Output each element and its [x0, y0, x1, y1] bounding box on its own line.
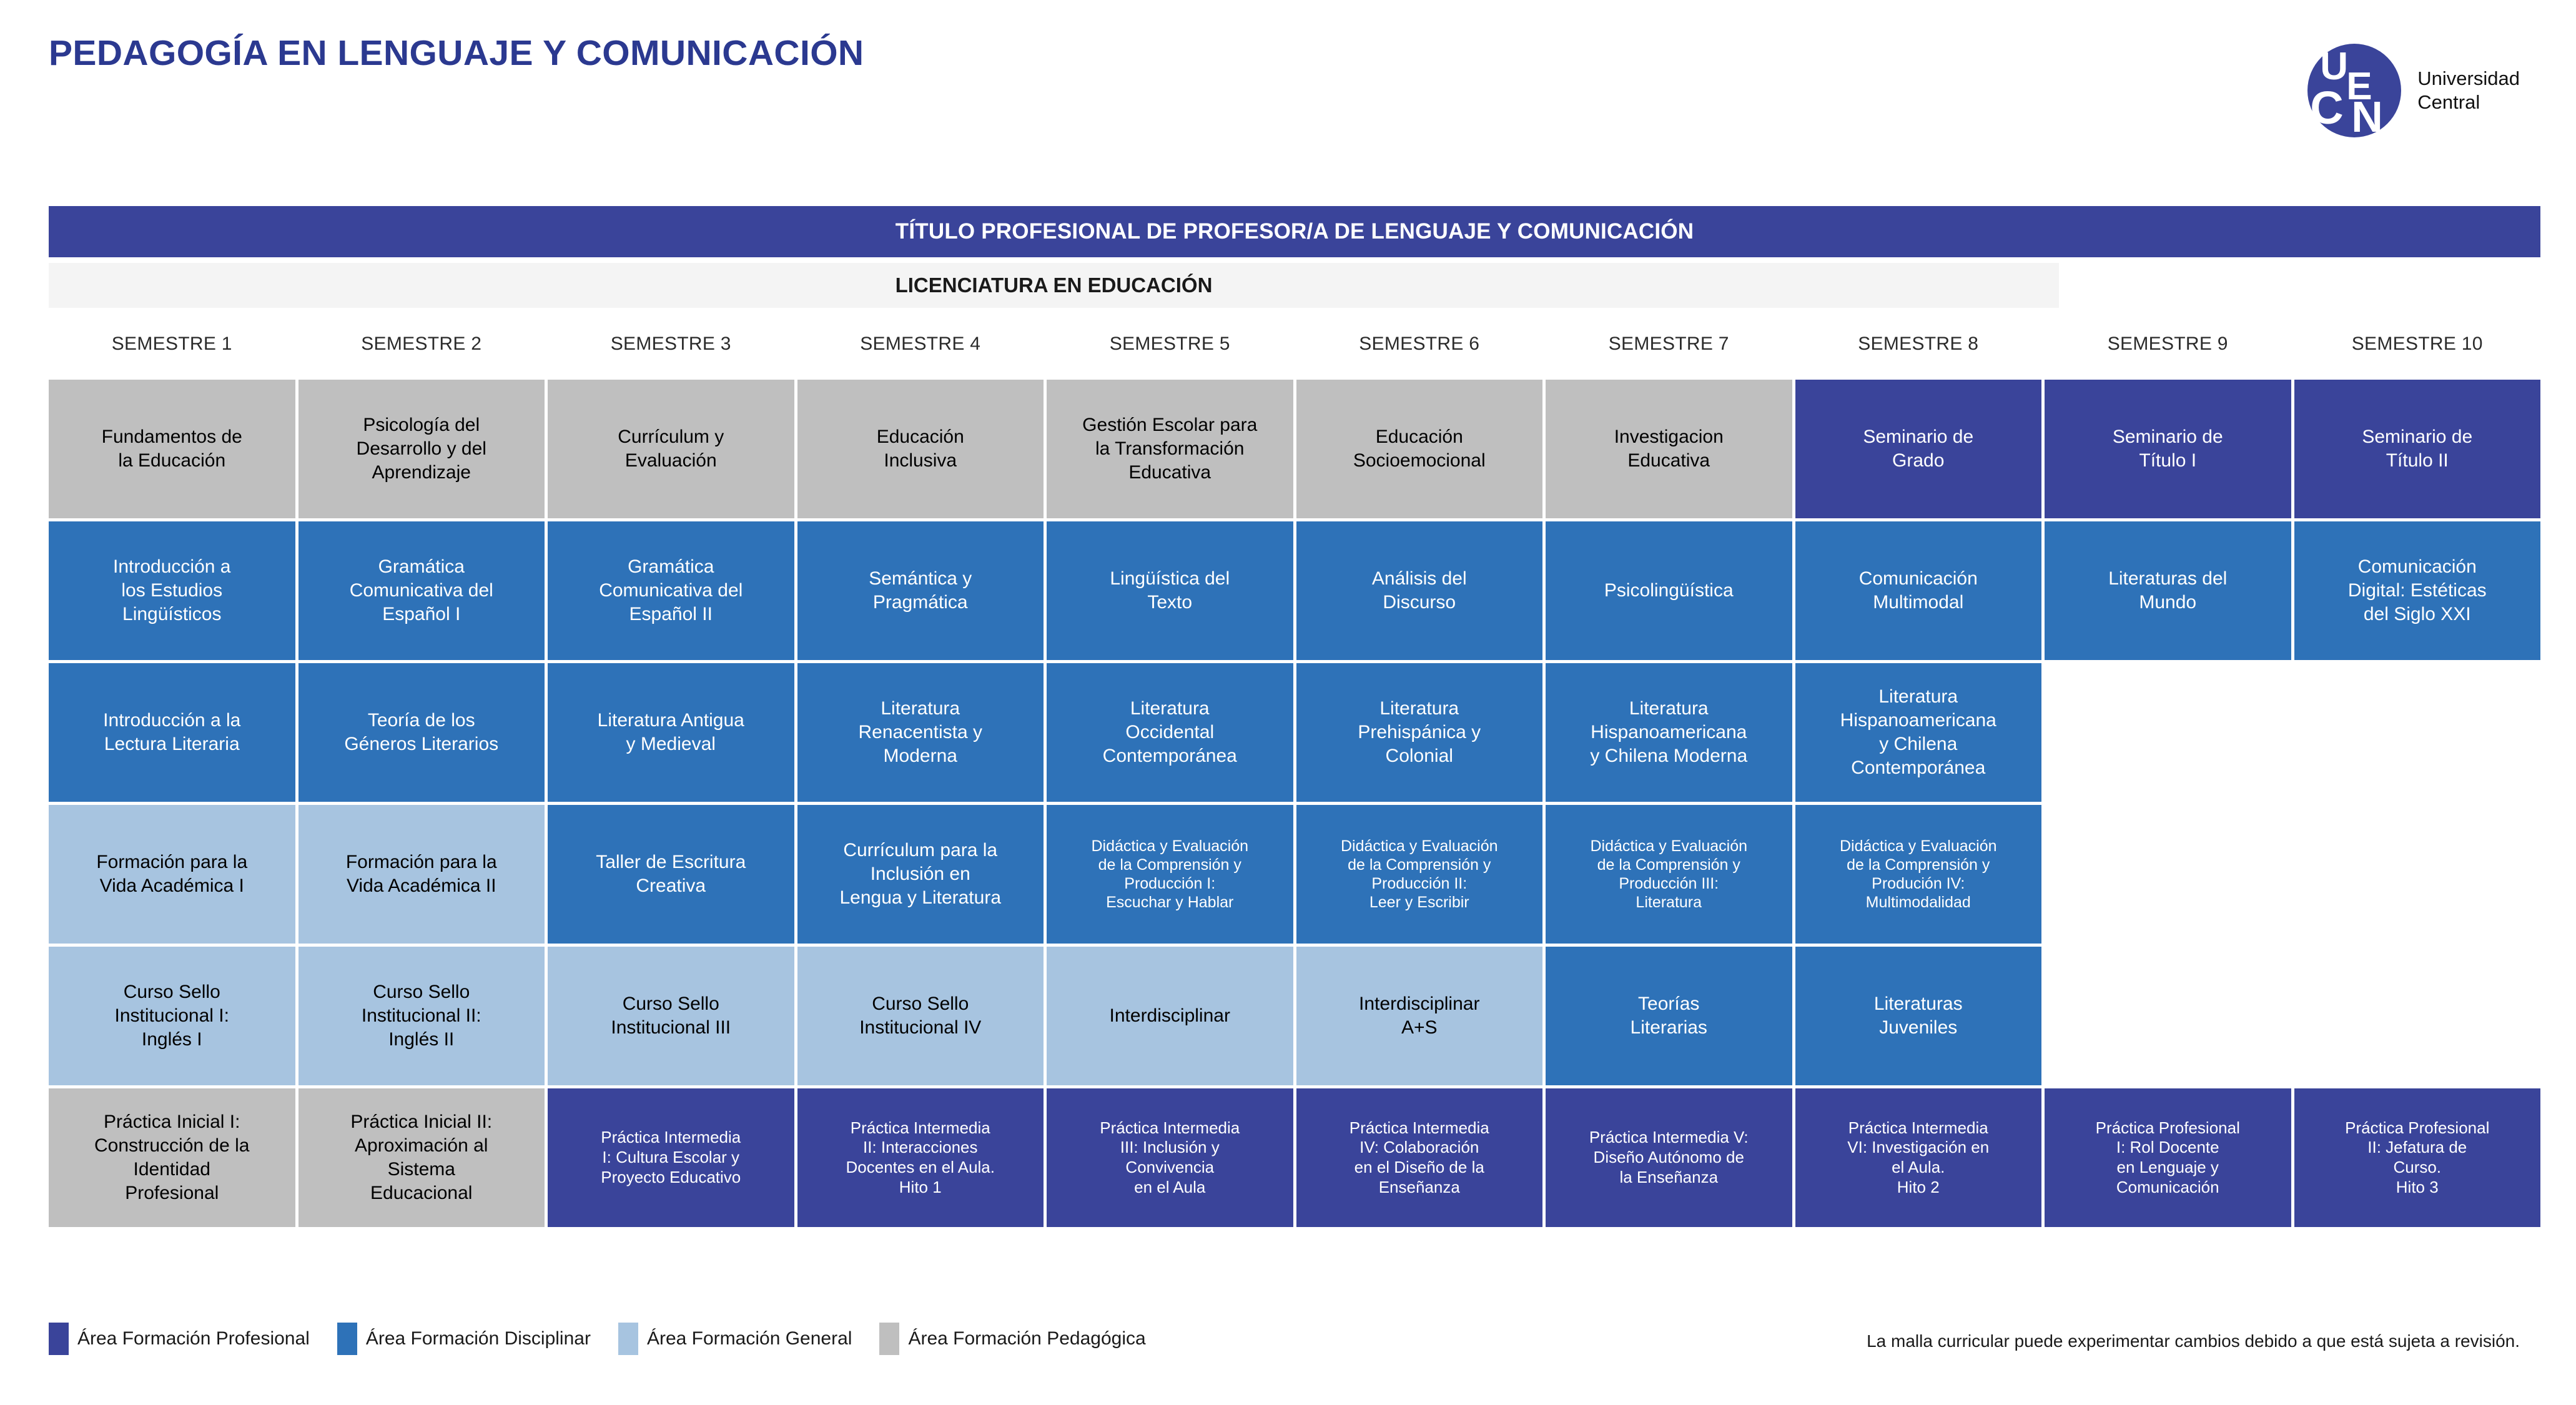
course-label: Psicolingüística [1604, 579, 1734, 603]
course-cell[interactable]: Curso SelloInstitucional I:Inglés I [49, 947, 295, 1085]
course-label: Seminario deTítulo I [2113, 425, 2223, 473]
grid-cell-empty [2045, 663, 2291, 802]
course-cell[interactable]: Análisis delDiscurso [1296, 521, 1543, 660]
course-cell[interactable]: Práctica IntermediaII: InteraccionesDoce… [797, 1088, 1044, 1227]
semester-label-3: SEMESTRE 3 [548, 328, 794, 360]
course-cell[interactable]: Semántica yPragmática [797, 521, 1044, 660]
semester-label-10: SEMESTRE 10 [2294, 328, 2541, 360]
course-cell[interactable]: Interdisciplinar [1047, 947, 1293, 1085]
logo-letter-n: N [2351, 95, 2383, 139]
semester-label-6: SEMESTRE 6 [1296, 328, 1543, 360]
course-cell[interactable]: Teoría de losGéneros Literarios [299, 663, 545, 802]
course-label: Literaturas delMundo [2108, 567, 2227, 614]
course-label: Psicología delDesarrollo y delAprendizaj… [357, 413, 486, 484]
course-cell[interactable]: Gestión Escolar parala TransformaciónEdu… [1047, 380, 1293, 518]
course-cell[interactable]: LiteraturaPrehispánica yColonial [1296, 663, 1543, 802]
course-cell[interactable]: Didáctica y Evaluaciónde la Comprensión … [1795, 805, 2042, 944]
course-cell[interactable]: LiteraturaHispanoamericanay Chilena Mode… [1546, 663, 1792, 802]
course-label: Didáctica y Evaluaciónde la Comprensión … [1341, 837, 1498, 912]
course-cell[interactable]: Introducción a laLectura Literaria [49, 663, 295, 802]
course-cell[interactable]: Práctica IntermediaI: Cultura Escolar yP… [548, 1088, 794, 1227]
course-label: Curso SelloInstitucional II:Inglés II [362, 980, 481, 1051]
course-cell[interactable]: Currículum yEvaluación [548, 380, 794, 518]
course-label: Práctica Intermedia V:Diseño Autónomo de… [1589, 1128, 1749, 1187]
course-label: EducaciónInclusiva [877, 425, 964, 473]
course-cell[interactable]: Introducción alos EstudiosLingüísticos [49, 521, 295, 660]
semester-header-row: SEMESTRE 1SEMESTRE 2SEMESTRE 3SEMESTRE 4… [49, 328, 2540, 360]
semester-label-2: SEMESTRE 2 [299, 328, 545, 360]
course-cell[interactable]: GramáticaComunicativa delEspañol I [299, 521, 545, 660]
course-cell[interactable]: Didáctica y Evaluaciónde la Comprensión … [1296, 805, 1543, 944]
course-cell[interactable]: Práctica IntermediaIII: Inclusión yConvi… [1047, 1088, 1293, 1227]
course-label: Semántica yPragmática [869, 567, 972, 614]
course-cell[interactable]: Curso SelloInstitucional II:Inglés II [299, 947, 545, 1085]
university-name: Universidad Central [2417, 67, 2520, 114]
course-label: Seminario deTítulo II [2362, 425, 2472, 473]
course-cell[interactable]: ComunicaciónMultimodal [1795, 521, 2042, 660]
course-label: Práctica IntermediaI: Cultura Escolar yP… [601, 1128, 741, 1187]
degree-subtitle-banner: LICENCIATURA EN EDUCACIÓN [49, 263, 2059, 308]
course-label: Seminario deGrado [1863, 425, 1973, 473]
course-label: Literatura Antiguay Medieval [598, 709, 744, 756]
course-cell[interactable]: GramáticaComunicativa delEspañol II [548, 521, 794, 660]
course-cell[interactable]: LiteraturaOccidentalContemporánea [1047, 663, 1293, 802]
course-cell[interactable]: Práctica ProfesionalI: Rol Docenteen Len… [2045, 1088, 2291, 1227]
legend-color-swatch [879, 1323, 899, 1355]
course-label: Práctica IntermediaII: InteraccionesDoce… [846, 1118, 995, 1198]
course-label: EducaciónSocioemocional [1353, 425, 1486, 473]
course-cell[interactable]: ComunicaciónDigital: Estéticasdel Siglo … [2294, 521, 2541, 660]
course-label: Curso SelloInstitucional IV [859, 992, 981, 1040]
course-cell[interactable]: Práctica Inicial I:Construcción de laIde… [49, 1088, 295, 1227]
course-label: LiteraturaRenacentista yModerna [859, 697, 982, 767]
course-label: LiteraturaPrehispánica yColonial [1358, 697, 1481, 767]
course-label: LiteraturasJuveniles [1874, 992, 1963, 1040]
course-cell[interactable]: LiteraturasJuveniles [1795, 947, 2042, 1085]
course-cell[interactable]: EducaciónSocioemocional [1296, 380, 1543, 518]
course-label: Taller de EscrituraCreativa [596, 850, 746, 898]
university-logo: U C E N Universidad Central [2307, 44, 2520, 137]
course-label: Práctica IntermediaIV: Colaboraciónen el… [1350, 1118, 1489, 1198]
course-label: Introducción alos EstudiosLingüísticos [113, 555, 230, 626]
course-cell[interactable]: Práctica IntermediaIV: Colaboraciónen el… [1296, 1088, 1543, 1227]
course-label: Didáctica y Evaluaciónde la Comprensión … [1590, 837, 1747, 912]
course-cell[interactable]: LiteraturaHispanoamericanay ChilenaConte… [1795, 663, 2042, 802]
legend-item: Área Formación Profesional [49, 1323, 310, 1355]
course-label: TeoríasLiterarias [1631, 992, 1707, 1040]
course-label: Práctica ProfesionalI: Rol Docenteen Len… [2096, 1118, 2240, 1198]
course-label: Curso SelloInstitucional III [611, 992, 731, 1040]
course-cell[interactable]: Taller de EscrituraCreativa [548, 805, 794, 944]
course-cell[interactable]: Práctica ProfesionalII: Jefatura deCurso… [2294, 1088, 2541, 1227]
curriculum-grid: Fundamentos dela EducaciónPsicología del… [49, 380, 2540, 1227]
course-label: Teoría de losGéneros Literarios [344, 709, 498, 756]
course-cell[interactable]: LiteraturaRenacentista yModerna [797, 663, 1044, 802]
semester-label-8: SEMESTRE 8 [1795, 328, 2042, 360]
legend-item: Área Formación Disciplinar [337, 1323, 591, 1355]
legend-label: Área Formación Disciplinar [366, 1328, 591, 1349]
legend-label: Área Formación Profesional [77, 1328, 310, 1349]
course-cell[interactable]: Didáctica y Evaluaciónde la Comprensión … [1047, 805, 1293, 944]
semester-label-7: SEMESTRE 7 [1546, 328, 1792, 360]
ucen-circle-icon: U C E N [2307, 44, 2401, 137]
university-name-line2: Central [2417, 91, 2520, 114]
legend-item: Área Formación Pedagógica [879, 1323, 1145, 1355]
course-label: LiteraturaOccidentalContemporánea [1103, 697, 1237, 767]
semester-label-9: SEMESTRE 9 [2045, 328, 2291, 360]
course-cell[interactable]: Lingüística delTexto [1047, 521, 1293, 660]
grid-cell-empty [2294, 663, 2541, 802]
course-cell[interactable]: InvestigacionEducativa [1546, 380, 1792, 518]
course-cell[interactable]: Seminario deTítulo I [2045, 380, 2291, 518]
course-cell[interactable]: Seminario deGrado [1795, 380, 2042, 518]
course-cell[interactable]: Literatura Antiguay Medieval [548, 663, 794, 802]
degree-title-banner: TÍTULO PROFESIONAL DE PROFESOR/A DE LENG… [49, 206, 2540, 257]
course-label: Gestión Escolar parala TransformaciónEdu… [1082, 413, 1257, 484]
course-label: Formación para laVida Académica I [96, 850, 247, 898]
course-cell[interactable]: Curso SelloInstitucional III [548, 947, 794, 1085]
course-label: LiteraturaHispanoamericanay ChilenaConte… [1840, 685, 1996, 779]
course-cell[interactable]: Práctica Inicial II:Aproximación alSiste… [299, 1088, 545, 1227]
legend-label: Área Formación General [647, 1328, 852, 1349]
page-title: PEDAGOGÍA EN LENGUAJE Y COMUNICACIÓN [49, 32, 864, 74]
course-cell[interactable]: Literaturas delMundo [2045, 521, 2291, 660]
legend-color-swatch [337, 1323, 357, 1355]
course-label: ComunicaciónMultimodal [1859, 567, 1978, 614]
course-cell[interactable]: Didáctica y Evaluaciónde la Comprensión … [1546, 805, 1792, 944]
page-header: PEDAGOGÍA EN LENGUAJE Y COMUNICACIÓN U C… [0, 0, 2576, 187]
legend-item: Área Formación General [618, 1323, 852, 1355]
grid-cell-empty [2294, 805, 2541, 944]
course-cell[interactable]: TeoríasLiterarias [1546, 947, 1792, 1085]
course-label: InterdisciplinarA+S [1359, 992, 1479, 1040]
course-cell[interactable]: EducaciónInclusiva [797, 380, 1044, 518]
legend-label: Área Formación Pedagógica [908, 1328, 1145, 1349]
legend-color-swatch [49, 1323, 69, 1355]
course-cell[interactable]: Práctica IntermediaVI: Investigación ene… [1795, 1088, 2042, 1227]
semester-label-5: SEMESTRE 5 [1047, 328, 1293, 360]
logo-letter-u: U [2320, 47, 2348, 86]
course-cell[interactable]: Fundamentos dela Educación [49, 380, 295, 518]
course-label: Interdisciplinar [1110, 1004, 1230, 1028]
course-label: LiteraturaHispanoamericanay Chilena Mode… [1590, 697, 1747, 767]
course-label: Curso SelloInstitucional I:Inglés I [115, 980, 229, 1051]
course-cell[interactable]: InterdisciplinarA+S [1296, 947, 1543, 1085]
course-cell[interactable]: Curso SelloInstitucional IV [797, 947, 1044, 1085]
course-cell[interactable]: Formación para laVida Académica I [49, 805, 295, 944]
course-cell[interactable]: Currículum para laInclusión enLengua y L… [797, 805, 1044, 944]
grid-cell-empty [2045, 947, 2291, 1085]
course-label: Introducción a laLectura Literaria [103, 709, 240, 756]
course-label: Didáctica y Evaluaciónde la Comprensión … [1840, 837, 1997, 912]
legend-color-swatch [618, 1323, 638, 1355]
grid-cell-empty [2045, 805, 2291, 944]
semester-label-4: SEMESTRE 4 [797, 328, 1044, 360]
course-cell[interactable]: Psicolingüística [1546, 521, 1792, 660]
course-label: Lingüística delTexto [1110, 567, 1230, 614]
grid-cell-empty [2294, 947, 2541, 1085]
course-cell[interactable]: Práctica Intermedia V:Diseño Autónomo de… [1546, 1088, 1792, 1227]
course-label: Fundamentos dela Educación [102, 425, 242, 473]
course-label: InvestigacionEducativa [1614, 425, 1724, 473]
course-label: Práctica ProfesionalII: Jefatura deCurso… [2345, 1118, 2489, 1198]
course-label: Práctica IntermediaVI: Investigación ene… [1847, 1118, 1989, 1198]
course-cell[interactable]: Formación para laVida Académica II [299, 805, 545, 944]
course-label: Formación para laVida Académica II [346, 850, 497, 898]
course-label: Currículum para laInclusión enLengua y L… [839, 839, 1001, 909]
course-cell[interactable]: Psicología delDesarrollo y delAprendizaj… [299, 380, 545, 518]
university-name-line1: Universidad [2417, 67, 2520, 91]
course-label: Didáctica y Evaluaciónde la Comprensión … [1091, 837, 1248, 912]
course-label: Práctica Inicial II:Aproximación alSiste… [350, 1110, 492, 1205]
legend: Área Formación ProfesionalÁrea Formación… [49, 1323, 1173, 1355]
logo-letter-c: C [2310, 85, 2343, 131]
disclaimer-text: La malla curricular puede experimentar c… [1867, 1331, 2520, 1351]
course-label: GramáticaComunicativa delEspañol I [350, 555, 493, 626]
semester-label-1: SEMESTRE 1 [49, 328, 295, 360]
course-label: GramáticaComunicativa delEspañol II [599, 555, 743, 626]
course-label: Análisis delDiscurso [1372, 567, 1467, 614]
course-label: ComunicaciónDigital: Estéticasdel Siglo … [2348, 555, 2487, 626]
course-label: Currículum yEvaluación [618, 425, 724, 473]
course-label: Práctica IntermediaIII: Inclusión yConvi… [1100, 1118, 1240, 1198]
course-label: Práctica Inicial I:Construcción de laIde… [94, 1110, 249, 1205]
course-cell[interactable]: Seminario deTítulo II [2294, 380, 2541, 518]
